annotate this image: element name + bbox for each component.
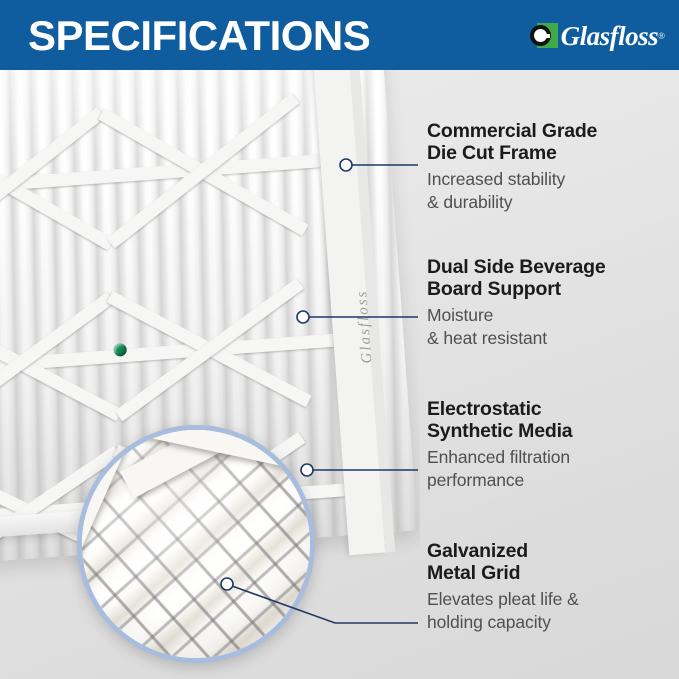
spec-block-electrostatic-synthetic-media: Electrostatic Synthetic Media Enhanced f… bbox=[427, 398, 675, 492]
spec-block-galvanized-metal-grid: Galvanized Metal Grid Elevates pleat lif… bbox=[427, 540, 675, 634]
spec-title-line2: Die Cut Frame bbox=[427, 142, 675, 164]
spec-desc-line1: Increased stability bbox=[427, 168, 675, 191]
spec-title: Commercial Grade Die Cut Frame bbox=[427, 120, 675, 164]
spec-title-line2: Metal Grid bbox=[427, 562, 675, 584]
registered-trademark-icon: ® bbox=[658, 31, 665, 41]
page-title: SPECIFICATIONS bbox=[28, 12, 370, 60]
spec-title-line1: Commercial Grade bbox=[427, 120, 675, 142]
spec-description: Elevates pleat life & holding capacity bbox=[427, 588, 675, 634]
brand-logo: Glasfloss ® bbox=[529, 20, 665, 52]
spec-title: Dual Side Beverage Board Support bbox=[427, 256, 675, 300]
spec-title-line1: Electrostatic bbox=[427, 398, 675, 420]
spec-title-line1: Galvanized bbox=[427, 540, 675, 562]
glasfloss-g-logo-icon bbox=[529, 22, 559, 50]
spec-description: Enhanced filtration performance bbox=[427, 446, 675, 492]
spec-title-line2: Synthetic Media bbox=[427, 420, 675, 442]
spec-desc-line2: & durability bbox=[427, 191, 675, 214]
specifications-infographic: SPECIFICATIONS Glasfloss ® bbox=[0, 0, 679, 679]
magnified-media-inset bbox=[77, 425, 315, 663]
header-banner: SPECIFICATIONS Glasfloss ® bbox=[0, 0, 679, 70]
spec-description: Increased stability & durability bbox=[427, 168, 675, 214]
spec-desc-line1: Enhanced filtration bbox=[427, 446, 675, 469]
spec-desc-line1: Moisture bbox=[427, 304, 675, 327]
spec-title-line2: Board Support bbox=[427, 278, 675, 300]
spec-block-commercial-grade-die-cut-frame: Commercial Grade Die Cut Frame Increased… bbox=[427, 120, 675, 214]
spec-desc-line2: performance bbox=[427, 469, 675, 492]
spec-desc-line1: Elevates pleat life & bbox=[427, 588, 675, 611]
spec-title-line1: Dual Side Beverage bbox=[427, 256, 675, 278]
spec-title: Electrostatic Synthetic Media bbox=[427, 398, 675, 442]
spec-desc-line2: holding capacity bbox=[427, 611, 675, 634]
spec-description: Moisture & heat resistant bbox=[427, 304, 675, 350]
spec-block-dual-side-beverage-board-support: Dual Side Beverage Board Support Moistur… bbox=[427, 256, 675, 350]
spec-desc-line2: & heat resistant bbox=[427, 327, 675, 350]
spec-title: Galvanized Metal Grid bbox=[427, 540, 675, 584]
brand-name: Glasfloss bbox=[561, 23, 659, 50]
